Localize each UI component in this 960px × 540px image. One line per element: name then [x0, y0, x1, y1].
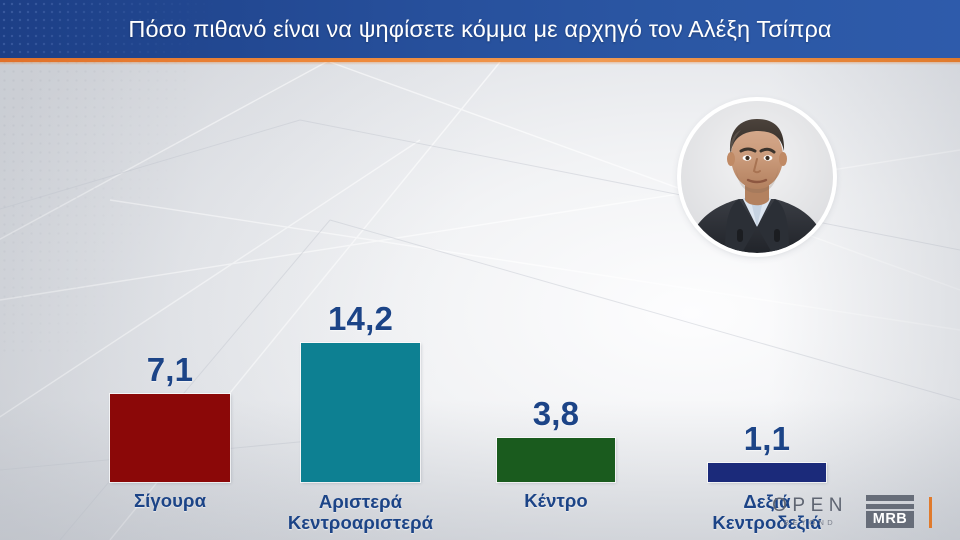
mrb-logo-bar-second — [866, 504, 914, 509]
bar-rect-3 — [708, 463, 826, 482]
bar-rect-2 — [497, 438, 615, 482]
bar-chart: 7,1 Σίγουρα 14,2 Αριστερά Κεντροαριστερά… — [0, 62, 960, 482]
bar-group-2: 3,8 Κέντρο — [497, 166, 615, 482]
mrb-logo-bar-top — [866, 495, 914, 501]
page-title: Πόσο πιθανό είναι να ψηφίσετε κόμμα με α… — [0, 0, 960, 58]
open-beyond-logo: OPEN BEYOND — [772, 496, 848, 527]
logo-divider — [929, 497, 932, 528]
bar-rect-1 — [301, 343, 420, 482]
footer-logos: OPEN BEYOND MRB — [0, 482, 960, 540]
bar-value-3: 1,1 — [708, 422, 826, 455]
mrb-logo-word: MRB — [866, 511, 914, 528]
poll-graphic-slide: Πόσο πιθανό είναι να ψηφίσετε κόμμα με α… — [0, 0, 960, 540]
header-band: Πόσο πιθανό είναι να ψηφίσετε κόμμα με α… — [0, 0, 960, 58]
bar-value-1: 14,2 — [301, 302, 420, 335]
bar-group-0: 7,1 Σίγουρα — [110, 166, 230, 482]
open-logo-subtitle: BEYOND — [772, 519, 848, 527]
bar-rect-0 — [110, 394, 230, 482]
bar-group-1: 14,2 Αριστερά Κεντροαριστερά — [301, 166, 420, 482]
bar-value-0: 7,1 — [110, 353, 230, 386]
open-logo-word: OPEN — [772, 496, 848, 515]
bar-group-3: 1,1 Δεξιά Κεντροδεξιά — [708, 166, 826, 482]
mrb-logo: MRB — [866, 495, 914, 528]
bar-value-2: 3,8 — [497, 397, 615, 430]
